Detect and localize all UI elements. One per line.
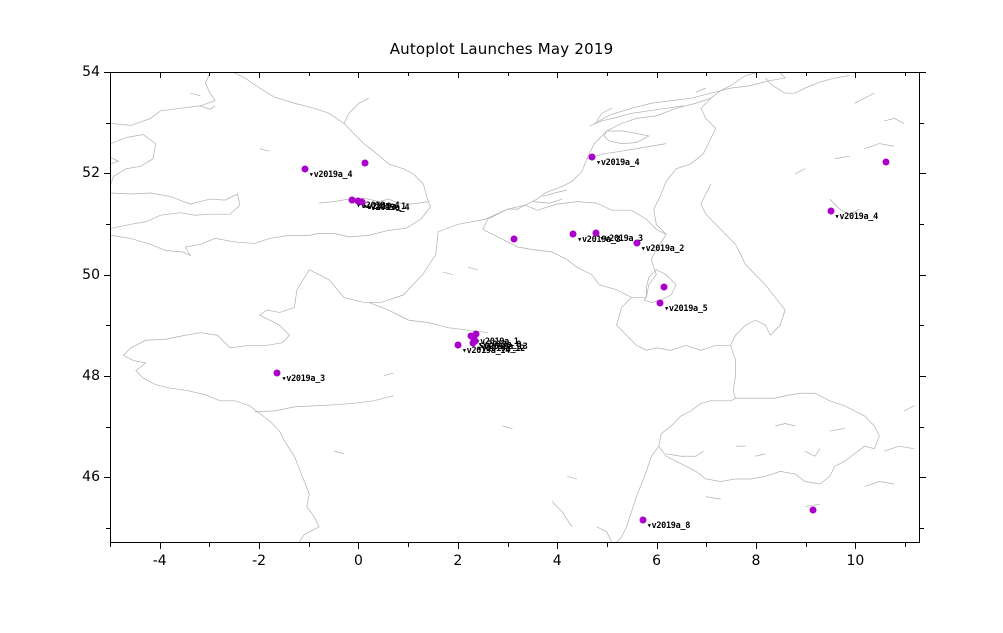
y-axis-tick-label: 48	[62, 368, 100, 384]
x-axis-tick	[259, 72, 260, 78]
y-axis-tick-label: 46	[62, 469, 100, 485]
data-point-label: ▾v2019a_8	[647, 521, 690, 531]
data-point-marker[interactable]	[660, 283, 667, 290]
y-axis-tick	[104, 173, 110, 174]
y-axis-minor-tick	[920, 123, 924, 124]
y-axis-tick	[920, 72, 926, 73]
x-axis-tick-label: 0	[354, 553, 363, 569]
data-point-marker[interactable]	[358, 198, 365, 205]
data-point-marker[interactable]	[633, 239, 640, 246]
x-axis-tick-label: -2	[252, 553, 266, 569]
x-axis-tick-label: 6	[652, 553, 661, 569]
x-axis-tick	[160, 543, 161, 549]
data-point-label: ▾v2019a_3	[281, 374, 324, 384]
x-axis-minor-tick	[706, 72, 707, 76]
map-plot-area[interactable]: ▾v2019a_4▾v2019a_4▾v2019a_1▾v2019a_4▾v20…	[110, 72, 920, 543]
page-title: Autoplot Launches May 2019	[0, 40, 1003, 58]
data-point-marker[interactable]	[639, 516, 646, 523]
x-axis-minor-tick	[408, 543, 409, 547]
y-axis-tick	[920, 275, 926, 276]
data-point-label: ▾v2019a_2	[641, 244, 684, 254]
x-axis-minor-tick	[806, 543, 807, 547]
x-axis-minor-tick	[905, 543, 906, 547]
y-axis-tick	[920, 173, 926, 174]
x-axis-tick	[458, 543, 459, 549]
x-axis-tick	[855, 543, 856, 549]
data-point-label: ▾v2019a_5	[664, 304, 707, 314]
figure-canvas: Autoplot Launches May 2019	[0, 0, 1003, 633]
x-axis-minor-tick	[110, 72, 111, 76]
x-axis-minor-tick	[309, 543, 310, 547]
data-point-marker[interactable]	[473, 331, 480, 338]
x-axis-minor-tick	[209, 543, 210, 547]
y-axis-tick	[104, 72, 110, 73]
y-axis-tick	[920, 477, 926, 478]
y-axis-tick	[104, 275, 110, 276]
y-axis-tick	[104, 376, 110, 377]
x-axis-minor-tick	[209, 72, 210, 76]
x-axis-tick-label: 2	[453, 553, 462, 569]
y-axis-minor-tick	[920, 224, 924, 225]
x-axis-minor-tick	[806, 72, 807, 76]
x-axis-tick	[557, 72, 558, 78]
data-point-marker[interactable]	[469, 340, 476, 347]
y-axis-tick	[104, 477, 110, 478]
x-axis-tick	[160, 72, 161, 78]
data-point-marker[interactable]	[883, 158, 890, 165]
data-point-marker[interactable]	[657, 300, 664, 307]
x-axis-tick	[557, 543, 558, 549]
x-axis-tick-label: -4	[153, 553, 167, 569]
x-axis-tick	[756, 72, 757, 78]
x-axis-minor-tick	[508, 543, 509, 547]
y-axis-tick-label: 52	[62, 165, 100, 181]
y-axis-tick-label: 50	[62, 267, 100, 283]
data-point-marker[interactable]	[274, 370, 281, 377]
x-axis-minor-tick	[408, 72, 409, 76]
y-axis-minor-tick	[106, 123, 110, 124]
data-point-marker[interactable]	[301, 166, 308, 173]
data-point-marker[interactable]	[570, 231, 577, 238]
data-point-label: ▾v2019a_4	[596, 158, 639, 168]
x-axis-tick	[458, 72, 459, 78]
data-point-marker[interactable]	[510, 236, 517, 243]
x-axis-tick-label: 4	[553, 553, 562, 569]
x-axis-tick	[358, 72, 359, 78]
data-point-marker[interactable]	[592, 229, 599, 236]
x-axis-tick	[657, 543, 658, 549]
x-axis-minor-tick	[110, 543, 111, 547]
data-point-marker[interactable]	[809, 506, 816, 513]
data-point-marker[interactable]	[362, 160, 369, 167]
x-axis-minor-tick	[905, 72, 906, 76]
x-axis-tick-label: 8	[752, 553, 761, 569]
x-axis-tick	[358, 543, 359, 549]
y-axis-minor-tick	[106, 528, 110, 529]
x-axis-tick	[855, 72, 856, 78]
x-axis-tick	[259, 543, 260, 549]
data-point-marker[interactable]	[589, 153, 596, 160]
y-axis-tick-label: 54	[62, 64, 100, 80]
x-axis-minor-tick	[508, 72, 509, 76]
y-axis-minor-tick	[106, 427, 110, 428]
y-axis-minor-tick	[920, 427, 924, 428]
y-axis-minor-tick	[106, 224, 110, 225]
coastline-layer	[111, 73, 919, 542]
x-axis-minor-tick	[607, 543, 608, 547]
x-axis-tick-label: 10	[846, 553, 864, 569]
y-axis-minor-tick	[920, 325, 924, 326]
data-point-marker[interactable]	[454, 342, 461, 349]
data-point-marker[interactable]	[827, 207, 834, 214]
y-axis-tick	[920, 376, 926, 377]
x-axis-minor-tick	[706, 543, 707, 547]
data-point-label: ▾v2019a_12	[477, 344, 525, 354]
data-point-label: ▾v2019a_4	[309, 170, 352, 180]
x-axis-tick	[657, 72, 658, 78]
x-axis-minor-tick	[309, 72, 310, 76]
y-axis-minor-tick	[920, 528, 924, 529]
data-point-label: ▾v2019a_4	[366, 203, 409, 213]
y-axis-minor-tick	[106, 325, 110, 326]
data-point-label: ▾v2019a_4	[835, 212, 878, 222]
x-axis-minor-tick	[607, 72, 608, 76]
x-axis-tick	[756, 543, 757, 549]
